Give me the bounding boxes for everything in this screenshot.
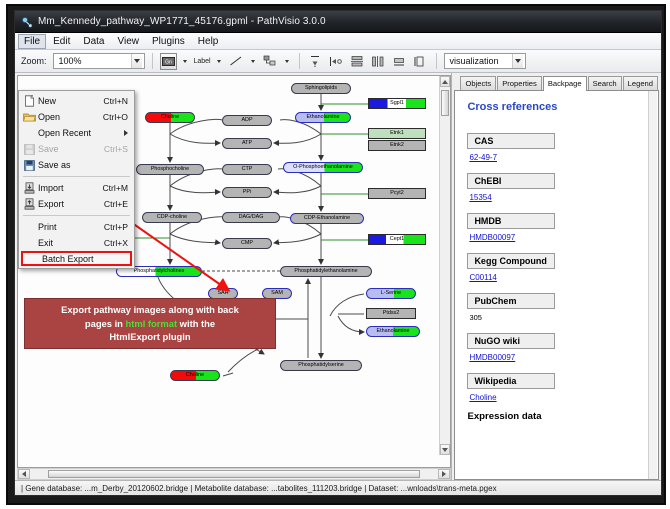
chevron-right-icon [124, 130, 128, 136]
label-dropdown-arrow[interactable] [215, 53, 224, 69]
node-label: CDP-choline [157, 215, 187, 220]
stack-vertical-button[interactable] [349, 53, 366, 70]
menu-item-label: Import [38, 183, 102, 193]
menu-item-shortcut: Ctrl+X [104, 238, 134, 248]
node-label: PPi [243, 190, 251, 195]
align-left-button[interactable] [328, 53, 345, 70]
interaction-dropdown-arrow[interactable] [283, 53, 292, 69]
node-label: Phosphatidylethanolamine [294, 269, 357, 274]
annotation-callout: Export pathway images along with back pa… [24, 298, 276, 349]
pathway-node-phosphatidylethanolamine[interactable]: Phosphatidylethanolamine [280, 266, 372, 277]
menu-separator-2 [23, 215, 130, 216]
xref-name: Wikipedia [467, 373, 555, 389]
callout-highlight: html format [126, 318, 178, 329]
pathway-node-phosphatidylserine[interactable]: Phosphatidylserine [280, 360, 362, 371]
menu-item-label: Save [38, 144, 104, 154]
pathway-node-etnk2[interactable]: Etnk2 [368, 140, 426, 151]
zoom-label: Zoom: [21, 56, 47, 66]
menu-edit[interactable]: Edit [47, 34, 76, 49]
pathway-node-dag[interactable]: DAG/DAG [222, 212, 280, 223]
tab-search[interactable]: Search [588, 76, 622, 90]
menu-item-print[interactable]: Print Ctrl+P [19, 219, 134, 235]
pathway-node-pcyt2[interactable]: Pcyt2 [368, 188, 426, 199]
open-folder-icon [21, 110, 38, 124]
node-label: Phosphocholine [151, 167, 189, 172]
side-panel: Objects Properties Backpage Search Legen… [452, 73, 661, 495]
pathway-node-adp[interactable]: ADP [222, 115, 272, 126]
pathway-node-sphingolipids[interactable]: Sphingolipids [291, 83, 351, 94]
menu-item-shortcut: Ctrl+O [103, 112, 134, 122]
pathway-node-cept1[interactable]: Cept1 [368, 234, 426, 245]
svg-text:Gn: Gn [165, 59, 172, 65]
blank-icon [21, 220, 38, 234]
node-label: SAM [271, 291, 283, 296]
blank-icon [21, 126, 38, 140]
scroll-down-arrow[interactable] [440, 444, 450, 455]
node-label: Pcyt2 [390, 191, 403, 196]
pathway-node-choline[interactable]: Choline [145, 112, 195, 123]
pathway-node-cdp-choline[interactable]: CDP-choline [142, 212, 202, 223]
line-tool-button[interactable] [228, 53, 245, 70]
pathway-node-ethanolamine-top[interactable]: Ethanolamine [295, 112, 351, 123]
menu-file[interactable]: File [18, 34, 46, 49]
node-label: ATP [242, 141, 252, 146]
xref-name: Kegg Compound [467, 253, 555, 269]
selection-handles[interactable] [170, 370, 220, 381]
zoom-dropdown-arrow[interactable] [131, 54, 142, 68]
node-label: O-Phosphoethanolamine [293, 165, 353, 170]
line-dropdown-arrow[interactable] [249, 53, 258, 69]
node-label: CDP-Ethanolamine [304, 216, 350, 221]
pathway-node-ethanolamine-bottom[interactable]: Ethanolamine [366, 326, 420, 337]
node-label: ADP [241, 118, 252, 123]
menu-plugins[interactable]: Plugins [146, 34, 191, 49]
visualization-dropdown-arrow[interactable] [512, 54, 523, 68]
pathway-node-l-serine[interactable]: L-Serine [366, 288, 416, 299]
node-label: CMP [241, 241, 253, 246]
xref-hmdb: HMDB HMDB00097 [467, 211, 646, 242]
export-icon [21, 197, 38, 211]
datanode-dropdown-arrow[interactable] [181, 53, 190, 69]
menu-item-label: Open [38, 112, 103, 122]
node-label: Phosphatidylserine [298, 363, 344, 368]
blank-icon [25, 252, 42, 266]
label-tool-button[interactable]: Label [194, 53, 211, 70]
zoom-value: 100% [59, 56, 131, 66]
menu-item-open-recent[interactable]: Open Recent [19, 125, 134, 141]
node-label: SAH [217, 291, 228, 296]
menu-view[interactable]: View [111, 34, 145, 49]
xref-nugo-wiki: NuGO wiki HMDB00097 [467, 331, 646, 362]
align-top-button[interactable] [307, 53, 324, 70]
menu-item-label: Save as [38, 160, 128, 170]
status-text: | Gene database: ...m_Derby_20120602.bri… [21, 484, 497, 493]
menu-item-label: New [38, 96, 103, 106]
xref-name: HMDB [467, 213, 555, 229]
toolbar-separator-1 [152, 53, 153, 69]
xref-link-hmdb[interactable]: HMDB00097 [467, 233, 646, 242]
xref-kegg-compound: Kegg Compound C00114 [467, 251, 646, 282]
menu-item-shortcut: Ctrl+M [102, 183, 134, 193]
common-height-button[interactable] [412, 53, 429, 70]
backpage-panel: Cross references CAS 62-49-7 ChEBI 15354… [454, 91, 659, 480]
xref-wikipedia: Wikipedia Choline [467, 371, 646, 402]
menu-item-import[interactable]: Import Ctrl+M [19, 180, 134, 196]
toolbar-separator-3 [436, 53, 437, 69]
node-label: Sgpl1 [390, 101, 404, 106]
callout-line-2-pre: pages in [85, 318, 126, 329]
xref-link-chebi[interactable]: 15354 [467, 193, 646, 202]
callout-line-3: HtmlExport plugin [31, 330, 269, 344]
screenshot-root: Mm_Kennedy_pathway_WP1771_45176.gpml - P… [0, 0, 670, 509]
pathway-node-etnk1[interactable]: Etnk1 [368, 128, 426, 139]
status-bar: | Gene database: ...m_Derby_20120602.bri… [15, 480, 661, 495]
menu-item-shortcut: Ctrl+P [104, 222, 134, 232]
pathway-node-atp[interactable]: ATP [222, 138, 272, 149]
canvas-vertical-scrollbar[interactable] [439, 76, 450, 455]
menu-bar: File Edit Data View Plugins Help [15, 33, 661, 50]
import-icon [21, 181, 38, 195]
node-label: Sphingolipids [305, 86, 337, 91]
canvas-horizontal-scrollbar[interactable] [17, 468, 451, 480]
save-disk-icon [21, 142, 38, 156]
cross-references-title: Cross references [467, 101, 646, 113]
datanode-tool-button[interactable]: Gn [160, 53, 177, 70]
visualization-combobox[interactable]: visualization [444, 53, 526, 69]
node-label: Cept1 [390, 237, 404, 242]
menu-separator-1 [23, 176, 130, 177]
menu-item-new[interactable]: New Ctrl+N [19, 93, 134, 109]
menu-data[interactable]: Data [77, 34, 110, 49]
pathway-node-ppi[interactable]: PPi [222, 187, 272, 198]
node-label: Etnk1 [390, 131, 404, 136]
node-label: DAG/DAG [239, 215, 264, 220]
pathvisio-app-icon [21, 16, 33, 28]
blank-icon [21, 236, 38, 250]
xref-name: ChEBI [467, 173, 555, 189]
expression-data-title: Expression data [467, 411, 646, 422]
menu-item-shortcut: Ctrl+N [103, 96, 134, 106]
node-label: Phosphatidylcholines [134, 269, 185, 274]
callout-line-2-post: with the [177, 318, 215, 329]
save-as-disk-icon [21, 158, 38, 172]
callout-line-2: pages in html format with the [31, 317, 269, 331]
menu-item-batch-export[interactable]: Batch Export [21, 251, 132, 266]
menu-item-shortcut: Ctrl+E [104, 199, 134, 209]
side-panel-scrollbar[interactable] [648, 91, 657, 479]
callout-line-1: Export pathway images along with back [31, 303, 269, 317]
xref-name: CAS [467, 133, 555, 149]
menu-item-export[interactable]: Export Ctrl+E [19, 196, 134, 212]
scroll-left-arrow[interactable] [18, 469, 30, 479]
pathway-node-phosphocholine[interactable]: Phosphocholine [136, 164, 204, 175]
menu-item-save: Save Ctrl+S [19, 141, 134, 157]
menu-item-open[interactable]: Open Ctrl+O [19, 109, 134, 125]
pathway-node-ptdss2[interactable]: Ptdss2 [366, 308, 416, 319]
label-tool-text: Label [191, 57, 212, 66]
xref-name: NuGO wiki [467, 333, 555, 349]
toolbar-separator-2 [299, 53, 300, 69]
vscroll-thumb[interactable] [441, 90, 449, 116]
title-bar: Mm_Kennedy_pathway_WP1771_45176.gpml - P… [15, 11, 661, 33]
node-label: Choline [161, 115, 179, 120]
xref-cas: CAS 62-49-7 [467, 131, 646, 162]
common-width-button[interactable] [391, 53, 408, 70]
window-title: Mm_Kennedy_pathway_WP1771_45176.gpml - P… [38, 16, 326, 27]
pathway-node-cmp[interactable]: CMP [222, 238, 272, 249]
pathway-node-o-phosphoethanolamine[interactable]: O-Phosphoethanolamine [283, 162, 363, 173]
tab-objects[interactable]: Objects [460, 76, 496, 90]
xref-value-pubchem: 305 [467, 313, 646, 322]
menu-item-label: Open Recent [38, 128, 124, 138]
scroll-right-arrow[interactable] [438, 469, 450, 479]
new-file-icon [21, 94, 38, 108]
xref-link-wikipedia[interactable]: Choline [467, 393, 646, 402]
node-label: Ethanolamine [377, 329, 410, 334]
menu-help[interactable]: Help [192, 34, 225, 49]
visualization-value: visualization [450, 56, 512, 66]
xref-link-nugo[interactable]: HMDB00097 [467, 353, 646, 362]
menu-item-label: Exit [38, 238, 104, 248]
node-label: L-Serine [381, 291, 401, 296]
xref-name: PubChem [467, 293, 555, 309]
menu-item-exit[interactable]: Exit Ctrl+X [19, 235, 134, 251]
zoom-combobox[interactable]: 100% [53, 53, 145, 69]
menu-item-label: Export [38, 199, 104, 209]
node-label: CTP [242, 167, 253, 172]
pathway-node-cdp-ethanolamine[interactable]: CDP-Ethanolamine [290, 213, 364, 224]
side-panel-tabs: Objects Properties Backpage Search Legen… [454, 75, 659, 91]
file-menu-dropdown[interactable]: New Ctrl+N Open Ctrl+O Open Recent [18, 90, 135, 269]
xref-chebi: ChEBI 15354 [467, 171, 646, 202]
stack-horizontal-button[interactable] [370, 53, 387, 70]
xref-link-kegg[interactable]: C00114 [467, 273, 646, 282]
pathway-node-ctp[interactable]: CTP [222, 164, 272, 175]
hscroll-thumb[interactable] [48, 470, 420, 478]
interaction-tool-button[interactable] [262, 53, 279, 70]
menu-item-label: Print [38, 222, 104, 232]
menu-item-shortcut: Ctrl+S [104, 144, 134, 154]
menu-item-label: Batch Export [42, 254, 130, 264]
menu-item-save-as[interactable]: Save as [19, 157, 134, 173]
scroll-up-arrow[interactable] [440, 76, 450, 87]
xref-link-cas[interactable]: 62-49-7 [467, 153, 646, 162]
xref-pubchem: PubChem 305 [467, 291, 646, 322]
tab-properties[interactable]: Properties [497, 76, 542, 90]
tab-legend[interactable]: Legend [623, 76, 658, 90]
pathvisio-window: Mm_Kennedy_pathway_WP1771_45176.gpml - P… [14, 10, 662, 496]
pathway-node-sgpl1[interactable]: Sgpl1 [368, 98, 426, 109]
node-label: Ethanolamine [307, 115, 340, 120]
node-label: Ptdss2 [383, 311, 399, 316]
node-label: Etnk2 [390, 143, 404, 148]
tab-backpage[interactable]: Backpage [543, 76, 587, 91]
toolbar: Zoom: 100% Gn Label [15, 50, 661, 73]
